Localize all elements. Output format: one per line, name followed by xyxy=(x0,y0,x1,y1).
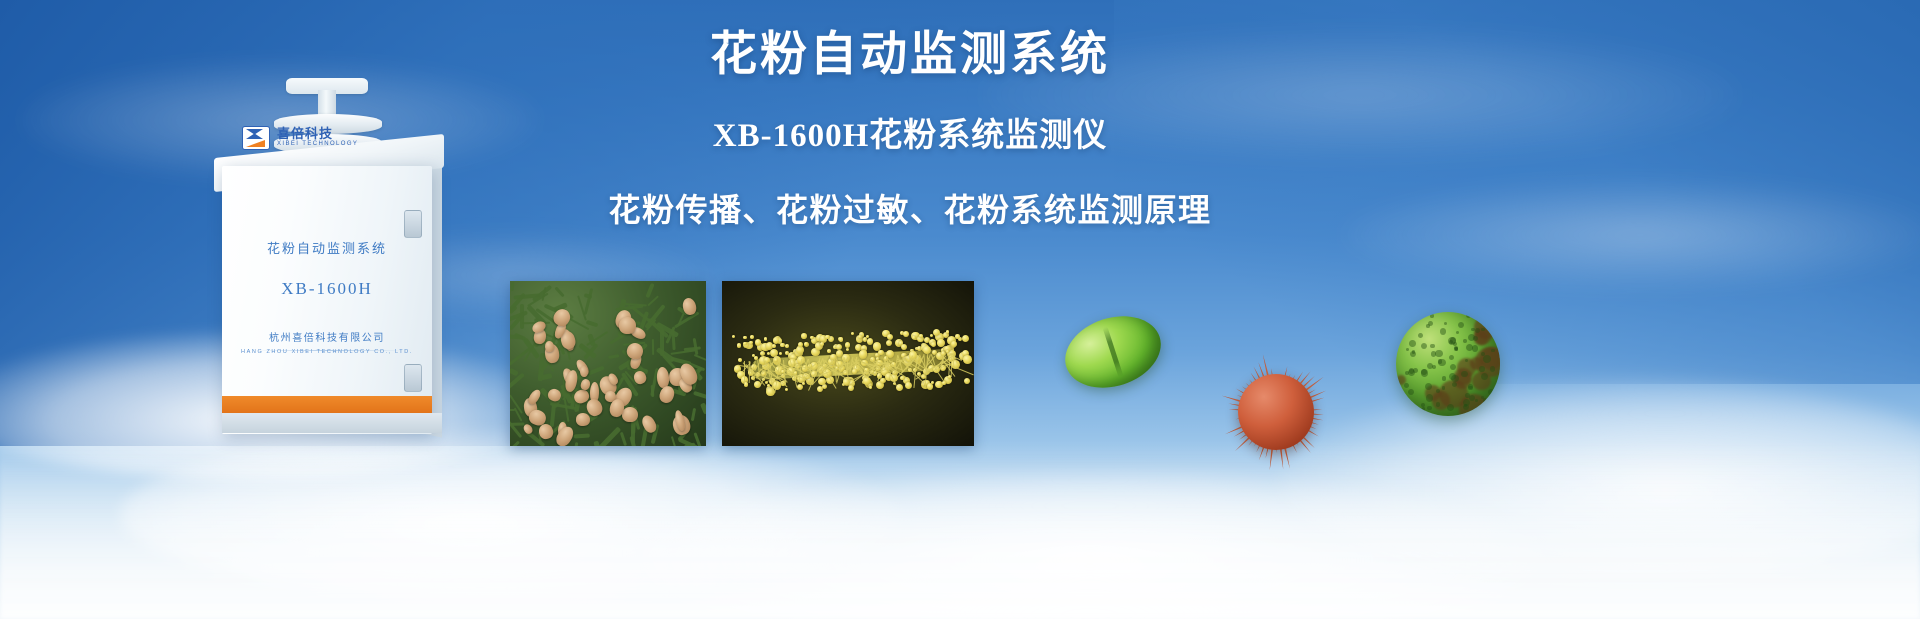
brand-name-cn: 喜倍科技 xyxy=(277,127,358,141)
xibei-logo-mark-icon xyxy=(242,126,270,150)
device-panel-divider xyxy=(254,350,404,351)
textured-sphere-grain xyxy=(1396,312,1500,416)
device-brand-logo: 喜倍科技 XIBEI TECHNOLOGY xyxy=(242,126,358,150)
device-product-name: 花粉自动监测系统 xyxy=(222,238,432,257)
brand-name-en: XIBEI TECHNOLOGY xyxy=(277,141,358,149)
device-model-number: XB-1600H xyxy=(222,279,432,299)
banner-tagline: 花粉传播、花粉过敏、花粉系统监测原理 xyxy=(560,190,1260,230)
spiky-grain xyxy=(1224,360,1328,464)
cypress-cones-photo xyxy=(510,281,706,446)
device-company-cn: 杭州喜倍科技有限公司 xyxy=(222,329,432,344)
device-latch-upper xyxy=(404,210,422,238)
brand-text: 喜倍科技 XIBEI TECHNOLOGY xyxy=(277,127,358,149)
horizon-haze xyxy=(0,439,1920,619)
device-front-labels: 花粉自动监测系统 XB-1600H 杭州喜倍科技有限公司 HANG ZHOU X… xyxy=(222,238,432,355)
banner-subline: XB-1600H花粉系统监测仪 xyxy=(560,117,1260,157)
catkin-photo xyxy=(722,281,974,446)
device-latch-lower xyxy=(404,364,422,392)
device-foot xyxy=(222,413,442,433)
headline-block: 花粉自动监测系统 XB-1600H花粉系统监测仪 花粉传播、花粉过敏、花粉系统监… xyxy=(560,28,1260,230)
device-cabinet: 喜倍科技 XIBEI TECHNOLOGY 花粉自动监测系统 XB-1600H … xyxy=(198,78,468,438)
banner-headline: 花粉自动监测系统 xyxy=(560,28,1260,81)
pollen-monitoring-banner: 花粉自动监测系统 XB-1600H花粉系统监测仪 花粉传播、花粉过敏、花粉系统监… xyxy=(0,0,1920,619)
device-base-stripe xyxy=(222,396,432,413)
